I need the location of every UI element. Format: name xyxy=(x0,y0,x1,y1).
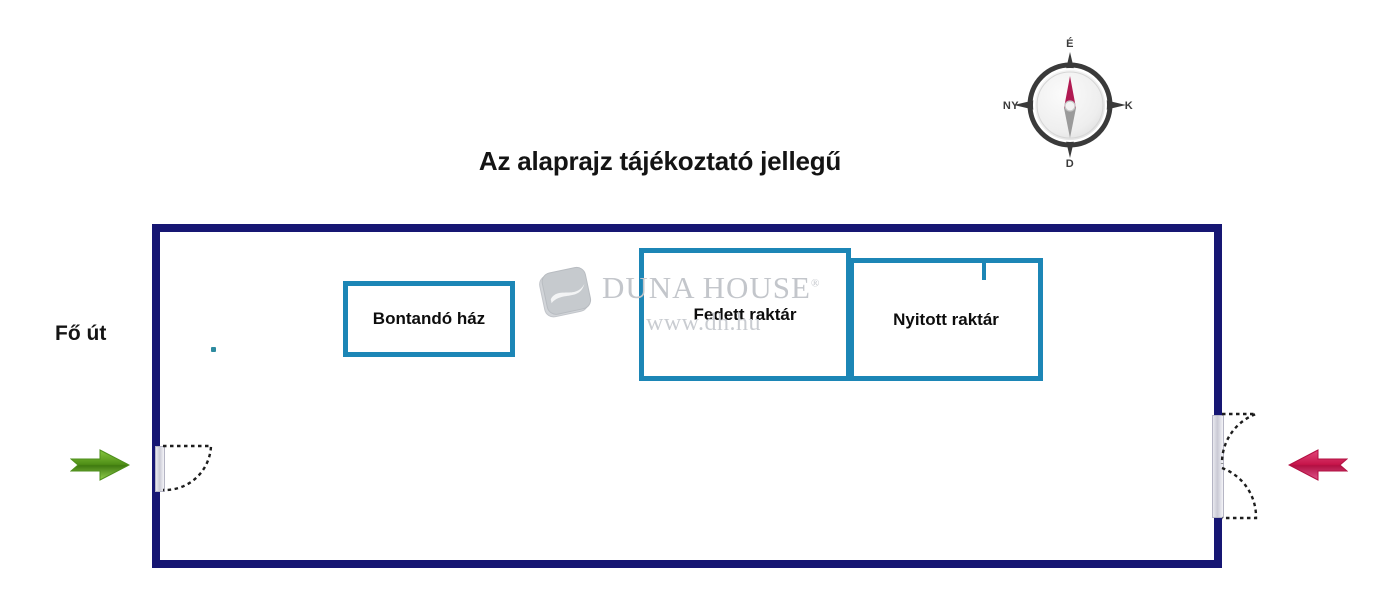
entry-arrow-icon xyxy=(70,448,130,482)
floor-plan-image: Az alaprajz tájékoztató jellegű Fő út Bo… xyxy=(0,0,1374,600)
right-gate-swing-arcs xyxy=(1222,410,1278,522)
room-label: Fedett raktár xyxy=(694,305,797,325)
room-label: Bontandó ház xyxy=(373,309,485,329)
compass-east-label: K xyxy=(1118,100,1140,112)
room-nyitott-raktar: Nyitott raktár xyxy=(849,258,1043,381)
room-label: Nyitott raktár xyxy=(893,310,999,330)
wall-tick-mark xyxy=(982,258,986,280)
compass-south-label: D xyxy=(1062,158,1078,170)
survey-point-marker xyxy=(211,347,216,352)
street-label: Fő út xyxy=(55,322,106,346)
room-fedett-raktar: Fedett raktár xyxy=(639,248,851,381)
compass-west-label: NY xyxy=(1000,100,1022,112)
exit-arrow-icon xyxy=(1288,448,1348,482)
left-gate-swing-arc xyxy=(163,440,215,496)
compass-rose: É D NY K xyxy=(1000,38,1140,172)
page-title: Az alaprajz tájékoztató jellegű xyxy=(430,146,890,177)
room-bontando-haz: Bontandó ház xyxy=(343,281,515,357)
compass-north-label: É xyxy=(1062,38,1078,50)
